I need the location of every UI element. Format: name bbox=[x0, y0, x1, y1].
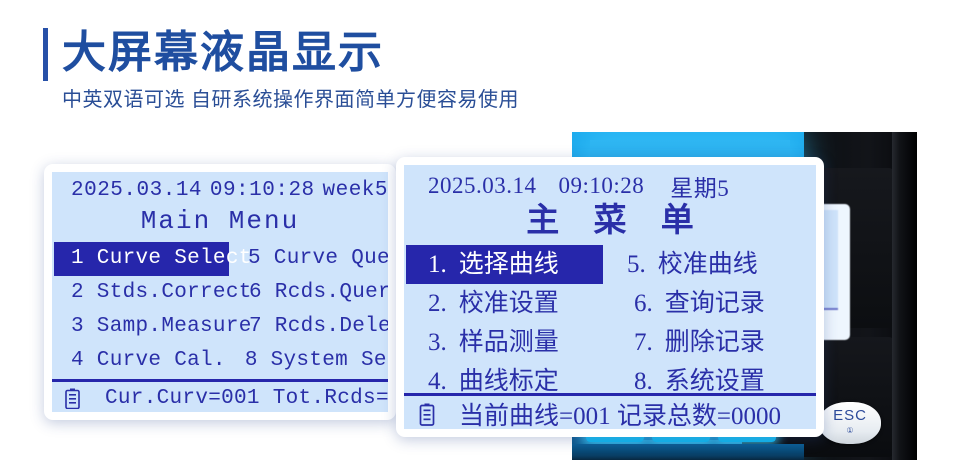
lcd-panel-english: 2025.03.14 09:10:28 week5 Main Menu 1 Cu… bbox=[44, 164, 396, 420]
lcd-chinese-footer: 当前曲线=001 记录总数=0000 bbox=[404, 399, 816, 429]
device-bottom-strip bbox=[572, 444, 804, 460]
menu-item-calib-curve-label: 校准曲线 bbox=[658, 251, 758, 278]
headline-accent-bar bbox=[43, 28, 48, 81]
menu-item-select-curve-num: 1. bbox=[428, 251, 447, 278]
menu-item-query-record-label: 查询记录 bbox=[665, 290, 765, 317]
page-title: 大屏幕液晶显示 bbox=[62, 26, 384, 80]
lcd-english-menu-row: 4 Curve Cal. 8 System Set bbox=[52, 344, 388, 378]
menu-item-calib-curve[interactable]: 5.校准曲线 bbox=[603, 245, 809, 284]
lcd-chinese-screen: 2025.03.14 09:10:28 星期5 主 菜 单 1.选择曲线 5.校… bbox=[404, 165, 816, 429]
device-right-edge bbox=[892, 132, 917, 460]
menu-item-system-setting-label: 系统设置 bbox=[665, 368, 765, 395]
menu-item-system-set[interactable]: 8 System Set bbox=[226, 344, 388, 378]
lcd-english-menu-row: 3 Samp.Measure 7 Rcds.Delete bbox=[52, 310, 388, 344]
menu-item-select-curve-label: 选择曲线 bbox=[459, 251, 559, 278]
lcd-panel-chinese: 2025.03.14 09:10:28 星期5 主 菜 单 1.选择曲线 5.校… bbox=[396, 157, 824, 437]
lcd-english-weekday: week5 bbox=[322, 179, 388, 202]
menu-item-curve-cal[interactable]: 4 Curve Cal. bbox=[52, 344, 226, 378]
lcd-chinese-menu-row: 1.选择曲线 5.校准曲线 bbox=[404, 245, 816, 284]
lcd-english-statusbar: 2025.03.14 09:10:28 week5 bbox=[52, 176, 388, 204]
lcd-chinese-title: 主 菜 单 bbox=[404, 201, 816, 241]
menu-item-system-setting-num: 8. bbox=[634, 368, 653, 395]
menu-item-query-record[interactable]: 6.查询记录 bbox=[610, 284, 816, 323]
page-subtitle: 中英双语可选 自研系统操作界面简单方便容易使用 bbox=[62, 87, 519, 113]
lcd-english-footer-text: Cur.Curv=001 Tot.Rcds=0000 bbox=[105, 387, 388, 410]
battery-icon bbox=[419, 403, 435, 426]
esc-button[interactable]: ESC ① bbox=[819, 402, 881, 444]
lcd-english-menu-row: 2 Stds.Correct 6 Rcds.Query bbox=[52, 276, 388, 310]
menu-item-curve-calibration-num: 4. bbox=[428, 368, 447, 395]
lcd-english-title: Main Menu bbox=[52, 204, 388, 238]
lcd-chinese-menu-row: 3.样品测量 7.删除记录 bbox=[404, 323, 816, 362]
menu-item-sample-measure[interactable]: 3.样品测量 bbox=[404, 323, 610, 362]
lcd-english-divider bbox=[52, 379, 388, 382]
menu-item-samp-measure[interactable]: 3 Samp.Measure bbox=[52, 310, 230, 344]
lcd-chinese-weekday: 星期5 bbox=[670, 169, 729, 203]
menu-item-calib-setting[interactable]: 2.校准设置 bbox=[404, 284, 610, 323]
menu-item-curve-select[interactable]: 1 Curve Select bbox=[54, 242, 229, 276]
lcd-chinese-time: 09:10:28 bbox=[559, 173, 645, 199]
menu-item-delete-record-label: 删除记录 bbox=[665, 329, 765, 356]
lcd-english-footer: Cur.Curv=001 Tot.Rcds=0000 bbox=[52, 384, 388, 412]
menu-item-sample-measure-label: 样品测量 bbox=[459, 329, 559, 356]
menu-item-rcds-query[interactable]: 6 Rcds.Query bbox=[230, 276, 388, 310]
lcd-english-menu: 1 Curve Select 5 Curve Query 2 Stds.Corr… bbox=[52, 242, 388, 378]
menu-item-calib-setting-num: 2. bbox=[428, 290, 447, 317]
menu-item-calib-setting-label: 校准设置 bbox=[459, 290, 559, 317]
lcd-english-date: 2025.03.14 bbox=[71, 179, 202, 202]
lcd-chinese-date: 2025.03.14 bbox=[428, 173, 537, 199]
menu-item-rcds-delete[interactable]: 7 Rcds.Delete bbox=[230, 310, 388, 344]
menu-item-delete-record-num: 7. bbox=[634, 329, 653, 356]
lcd-chinese-menu: 1.选择曲线 5.校准曲线 2.校准设置 6.查询记录 bbox=[404, 245, 816, 401]
menu-item-stds-correct[interactable]: 2 Stds.Correct bbox=[52, 276, 230, 310]
menu-item-sample-measure-num: 3. bbox=[428, 329, 447, 356]
menu-item-calib-curve-num: 5. bbox=[627, 251, 646, 278]
lcd-english-menu-row: 1 Curve Select 5 Curve Query bbox=[52, 242, 388, 276]
menu-item-curve-query[interactable]: 5 Curve Query bbox=[229, 242, 388, 276]
esc-button-label: ESC bbox=[819, 402, 881, 426]
lcd-chinese-menu-row: 2.校准设置 6.查询记录 bbox=[404, 284, 816, 323]
menu-item-curve-calibration-label: 曲线标定 bbox=[459, 368, 559, 395]
esc-button-sublabel: ① bbox=[819, 426, 881, 435]
menu-item-delete-record[interactable]: 7.删除记录 bbox=[610, 323, 816, 362]
menu-item-select-curve[interactable]: 1.选择曲线 bbox=[406, 245, 603, 284]
lcd-english-time: 09:10:28 bbox=[210, 179, 315, 202]
menu-item-query-record-num: 6. bbox=[634, 290, 653, 317]
lcd-chinese-statusbar: 2025.03.14 09:10:28 星期5 bbox=[404, 171, 816, 201]
battery-icon bbox=[65, 388, 80, 409]
lcd-english-screen: 2025.03.14 09:10:28 week5 Main Menu 1 Cu… bbox=[52, 172, 388, 412]
lcd-chinese-footer-text: 当前曲线=001 记录总数=0000 bbox=[459, 396, 781, 429]
promo-banner: 测定仪 线 录 录 置 0000 ○ △ ▭ ESC ① 大屏幕液晶显示 中英双… bbox=[0, 0, 980, 460]
